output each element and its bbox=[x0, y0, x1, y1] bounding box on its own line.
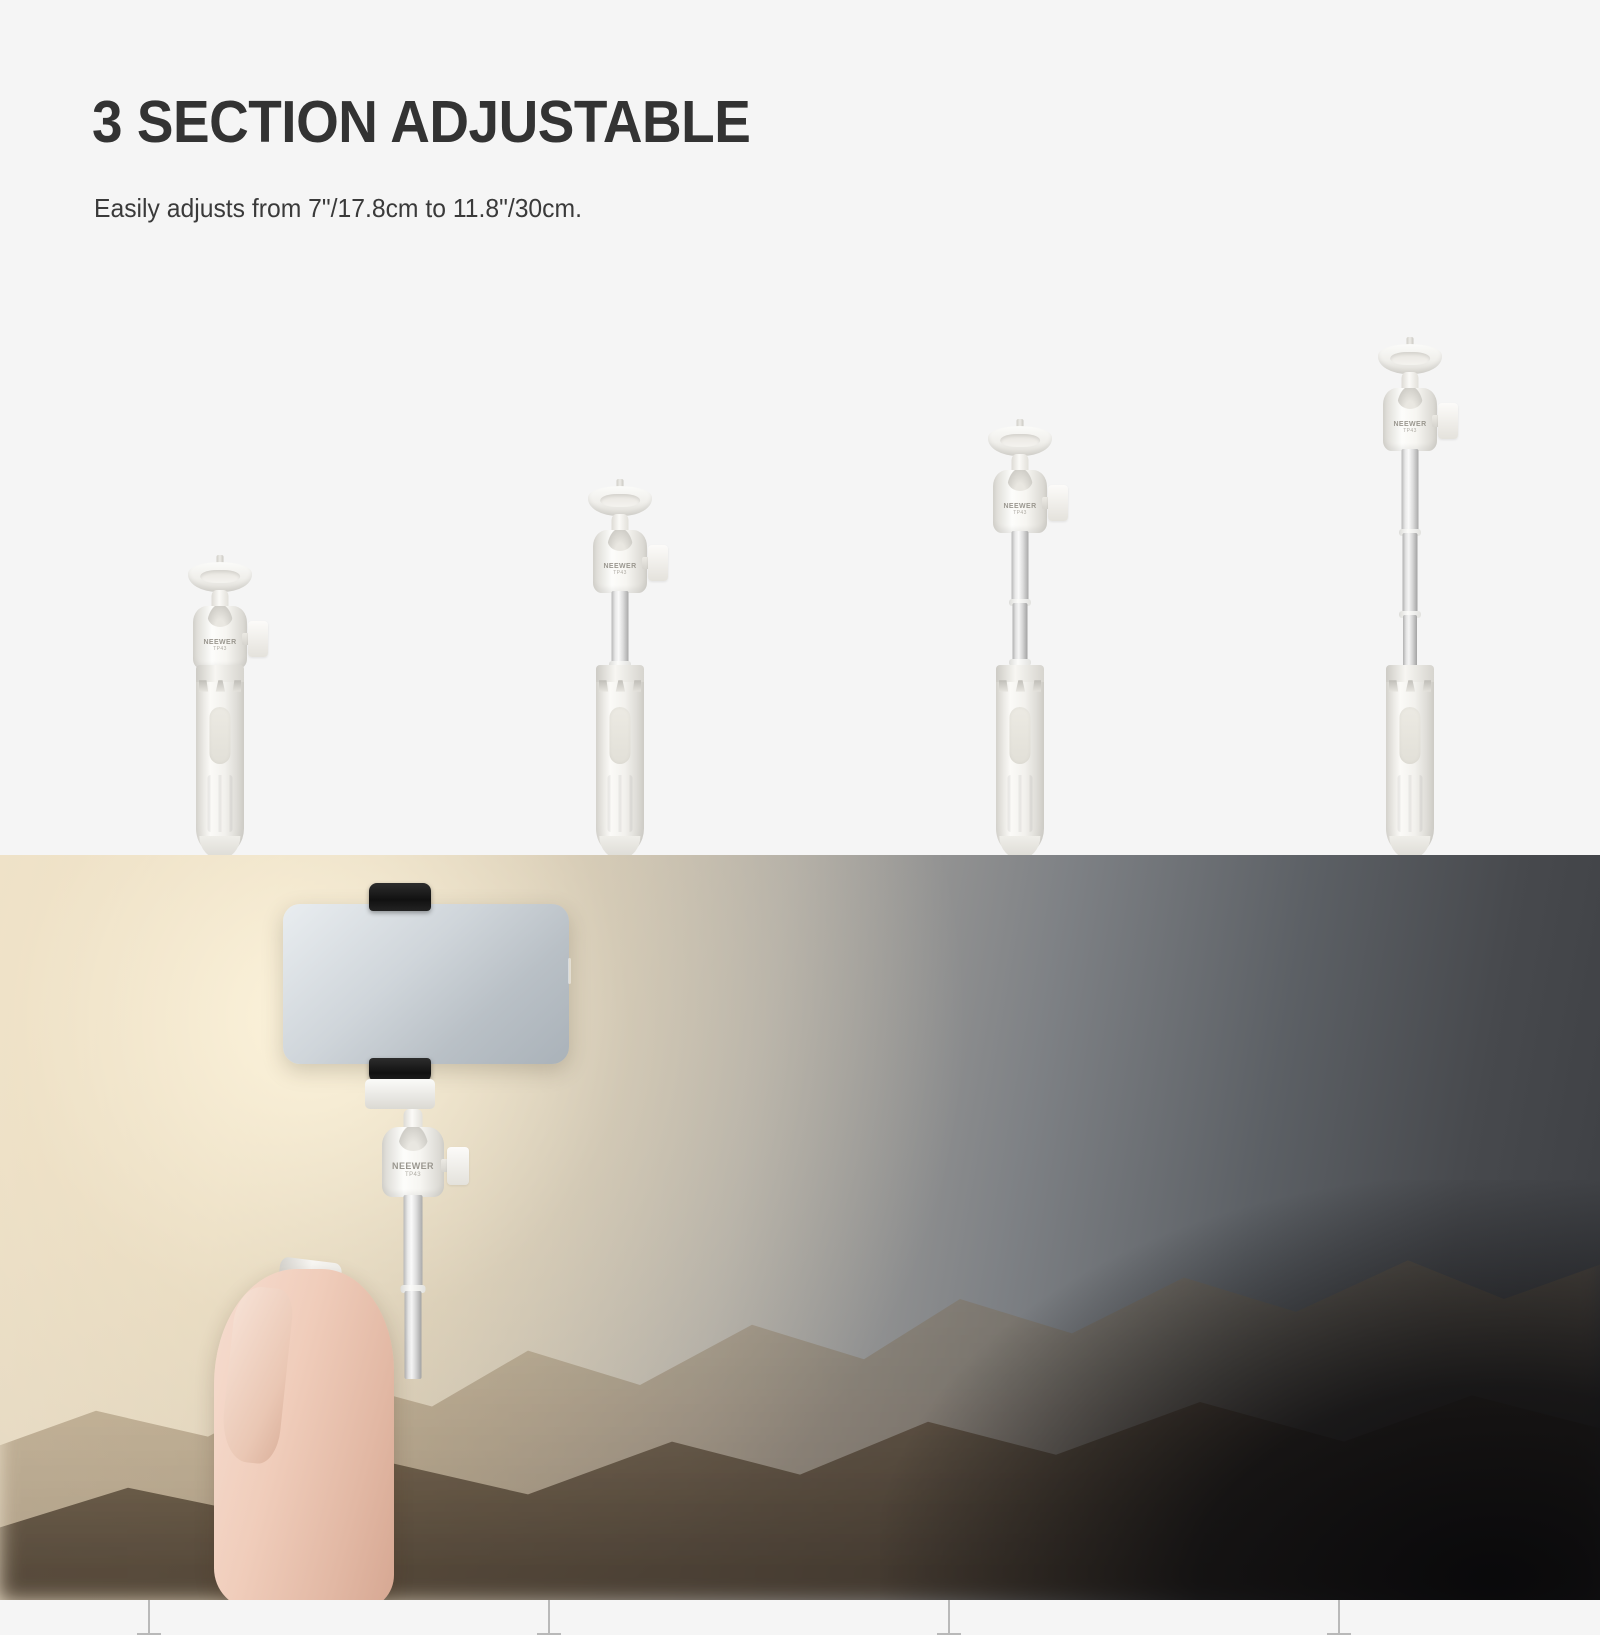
lock-knob[interactable] bbox=[447, 1147, 469, 1185]
brand-label: NEEWER TP43 bbox=[203, 639, 236, 653]
pole-section-2 bbox=[405, 1291, 422, 1379]
handle-grip[interactable] bbox=[996, 665, 1044, 855]
grip-ribs bbox=[1398, 775, 1423, 832]
grip-ribs bbox=[608, 775, 633, 832]
tripod-stage-two: NEEWER TP43 bbox=[972, 419, 1068, 855]
mounting-plate bbox=[588, 486, 652, 516]
leg-notch bbox=[999, 680, 1041, 691]
handle-grip[interactable] bbox=[196, 665, 244, 855]
brand-label: NEEWER TP43 bbox=[603, 563, 636, 577]
handle-collar bbox=[996, 665, 1044, 682]
handle-collar bbox=[1386, 665, 1434, 682]
handle-collar bbox=[196, 665, 244, 682]
grip-pad bbox=[609, 707, 630, 764]
mounting-plate bbox=[988, 426, 1052, 456]
retractable-section: NEEWER TP43 RETRACTABLE DESIGN Features … bbox=[0, 855, 1600, 1600]
ball-saddle bbox=[1008, 470, 1033, 491]
adjustable-section: 3 SECTION ADJUSTABLE Easily adjusts from… bbox=[0, 0, 1600, 855]
page-subtitle: Easily adjusts from 7"/17.8cm to 11.8"/3… bbox=[94, 193, 582, 224]
handle-grip[interactable] bbox=[1386, 665, 1434, 855]
mounting-plate bbox=[188, 562, 252, 592]
ball-head bbox=[993, 470, 1047, 533]
phone-clamp-top bbox=[369, 883, 431, 911]
ball-head bbox=[593, 530, 647, 593]
handle-grip[interactable] bbox=[596, 665, 644, 855]
tripod-closed: NEEWER TP43 bbox=[172, 555, 268, 855]
phone-mount-base bbox=[365, 1079, 435, 1109]
brand-label: NEEWER TP43 bbox=[1003, 503, 1036, 517]
handle-collar bbox=[596, 665, 644, 682]
leg-notch bbox=[599, 680, 641, 691]
leg-notch bbox=[199, 680, 241, 691]
tripod-stage-one: NEEWER TP43 bbox=[572, 479, 668, 855]
brand-label: NEEWER TP43 bbox=[392, 1161, 434, 1179]
page-title: 3 SECTION ADJUSTABLE bbox=[92, 88, 750, 156]
ball-saddle bbox=[608, 530, 633, 551]
pole-section-2 bbox=[1403, 533, 1418, 617]
grip-ribs bbox=[208, 775, 233, 832]
pole-section-3 bbox=[1403, 615, 1417, 667]
leg-notch bbox=[1389, 680, 1431, 691]
lock-knob[interactable] bbox=[1048, 485, 1068, 521]
pole-section-1 bbox=[404, 1195, 423, 1291]
hero-photo: NEEWER TP43 bbox=[0, 855, 800, 1600]
lock-knob[interactable] bbox=[648, 545, 668, 581]
pole-section-1 bbox=[1402, 449, 1419, 535]
grip-pad bbox=[1399, 707, 1420, 764]
ball-saddle bbox=[1398, 388, 1423, 409]
lock-knob[interactable] bbox=[248, 621, 268, 657]
ball-head bbox=[193, 606, 247, 669]
grip-pad bbox=[1009, 707, 1030, 764]
ball-head bbox=[1383, 388, 1437, 451]
grip-ribs bbox=[1008, 775, 1033, 832]
pole-section-2 bbox=[1013, 603, 1028, 665]
tripod-full: NEEWER TP43 bbox=[1362, 337, 1458, 855]
corner-shadow bbox=[880, 1180, 1600, 1600]
pole-section-1 bbox=[1012, 531, 1029, 605]
mounting-plate bbox=[1378, 344, 1442, 374]
pole-section-1 bbox=[612, 591, 629, 667]
smartphone bbox=[283, 904, 569, 1064]
brand-label: NEEWER TP43 bbox=[1393, 421, 1426, 435]
ball-saddle bbox=[208, 606, 233, 627]
grip-pad bbox=[209, 707, 230, 764]
lock-knob[interactable] bbox=[1438, 403, 1458, 439]
ball-saddle bbox=[399, 1127, 428, 1151]
